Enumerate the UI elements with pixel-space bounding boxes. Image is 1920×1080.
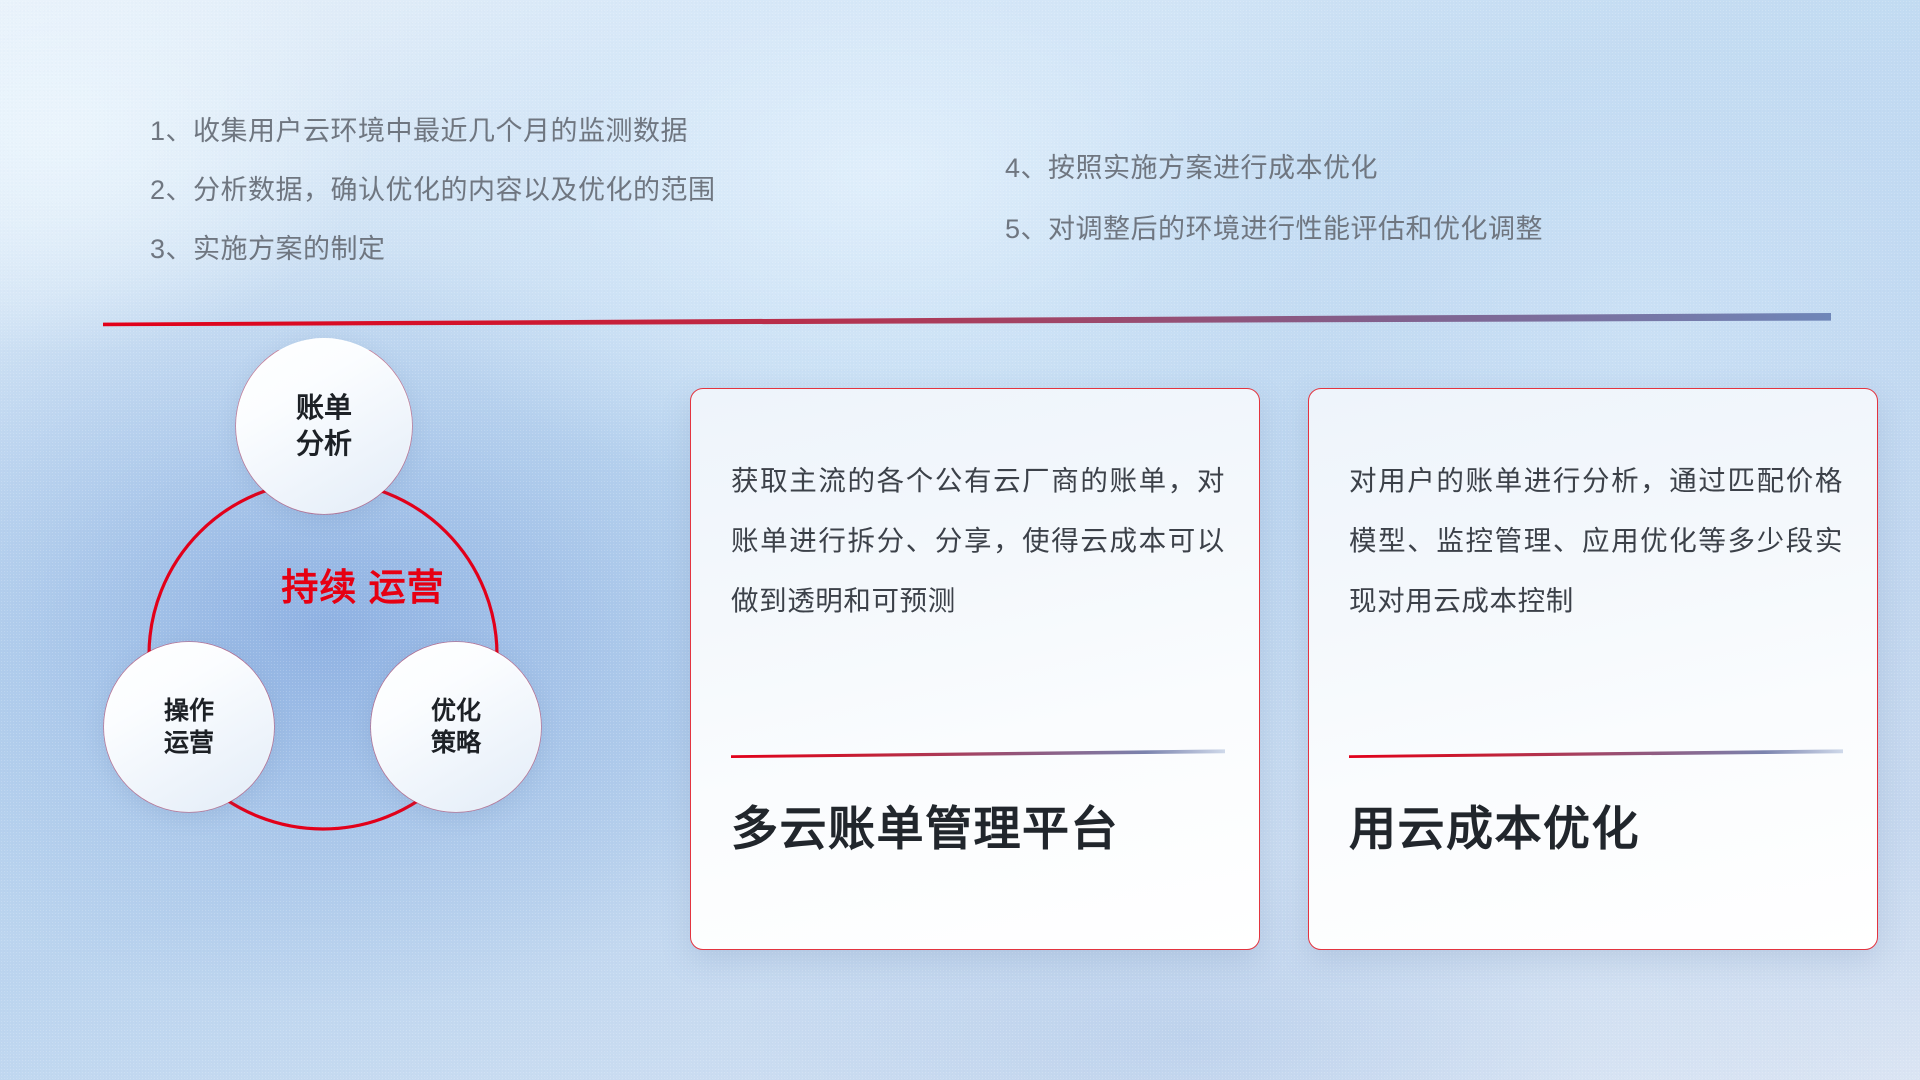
- step-item-1: 1、收集用户云环境中最近几个月的监测数据: [150, 118, 716, 145]
- step-item-4: 4、按照实施方案进行成本优化: [1005, 155, 1543, 182]
- step-item-5: 5、对调整后的环境进行性能评估和优化调整: [1005, 216, 1543, 243]
- card-divider: [731, 749, 1225, 758]
- card-divider-shape: [1349, 749, 1843, 758]
- card-title: 用云成本优化: [1349, 801, 1847, 857]
- center-label-line1: 持续: [281, 567, 357, 608]
- diagram-node-operations[interactable]: 操作 运营: [104, 642, 274, 812]
- section-divider: [103, 313, 1831, 327]
- card-body-text: 对用户的账单进行分析，通过匹配价格模型、监控管理、应用优化等多少段实现对用云成本…: [1349, 451, 1843, 631]
- card-divider: [1349, 749, 1843, 758]
- node-label-line2: 策略: [431, 727, 481, 759]
- card-multi-cloud-billing-platform[interactable]: 获取主流的各个公有云厂商的账单，对账单进行拆分、分享，使得云成本可以做到透明和可…: [690, 388, 1260, 950]
- node-label-line1: 操作: [164, 695, 214, 727]
- node-label-line2: 运营: [164, 727, 214, 759]
- step-item-2: 2、分析数据，确认优化的内容以及优化的范围: [150, 177, 716, 204]
- card-body-text: 获取主流的各个公有云厂商的账单，对账单进行拆分、分享，使得云成本可以做到透明和可…: [731, 451, 1225, 631]
- node-label-line1: 优化: [431, 695, 481, 727]
- step-item-3: 3、实施方案的制定: [150, 236, 716, 263]
- continuous-operation-diagram: 账单 分析 操作 运营 优化 策略 持续 运营: [95, 350, 645, 950]
- center-label-line2: 运营: [369, 567, 445, 608]
- node-label-line2: 分析: [296, 426, 352, 462]
- steps-list-right: 4、按照实施方案进行成本优化 5、对调整后的环境进行性能评估和优化调整: [1005, 155, 1543, 277]
- diagram-node-billing-analysis[interactable]: 账单 分析: [236, 338, 412, 514]
- card-divider-shape: [731, 749, 1225, 758]
- divider-shape: [103, 313, 1831, 327]
- card-title: 多云账单管理平台: [731, 801, 1229, 857]
- node-label-line1: 账单: [296, 390, 352, 426]
- card-cloud-cost-optimization[interactable]: 对用户的账单进行分析，通过匹配价格模型、监控管理、应用优化等多少段实现对用云成本…: [1308, 388, 1878, 950]
- steps-list-left: 1、收集用户云环境中最近几个月的监测数据 2、分析数据，确认优化的内容以及优化的…: [150, 118, 716, 295]
- diagram-center-label: 持续 运营: [268, 565, 458, 611]
- diagram-node-optimization-strategy[interactable]: 优化 策略: [371, 642, 541, 812]
